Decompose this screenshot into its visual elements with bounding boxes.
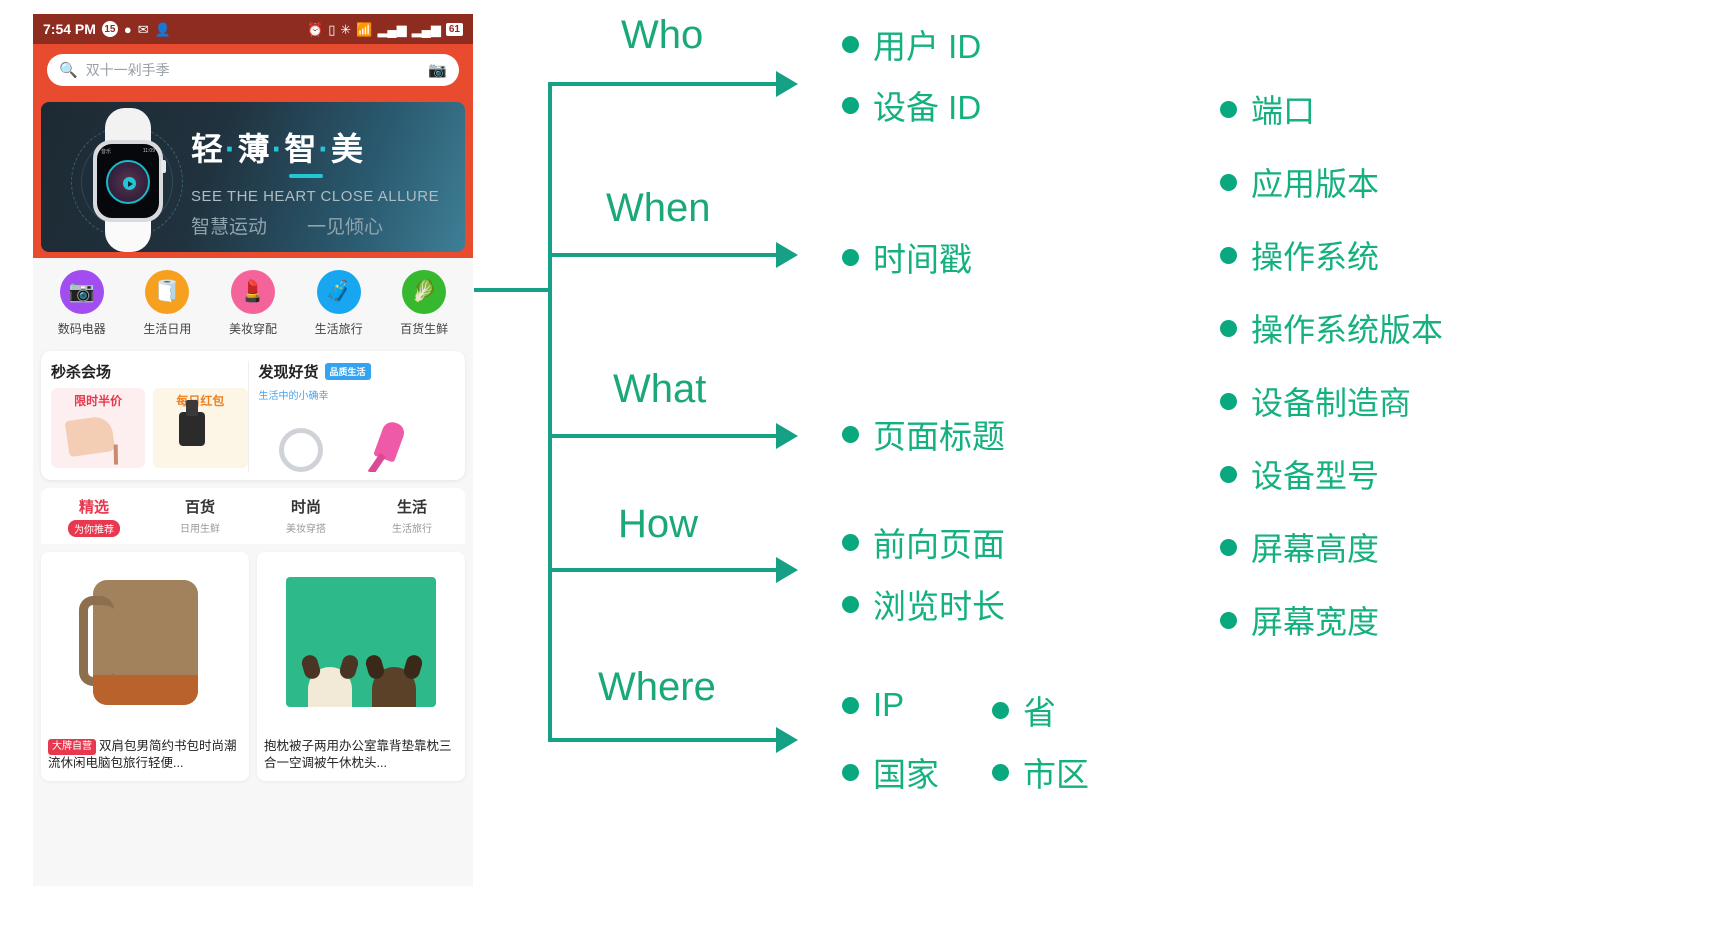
tab-label: 精选 <box>41 496 147 517</box>
smartwatch-illustration: 音乐 11:09 <box>71 108 186 248</box>
category-row: 📷 数码电器 🧻 生活日用 💄 美妆穿配 🧳 生活旅行 🥬 百货生鲜 <box>33 258 473 343</box>
notification-count-badge: 15 <box>102 21 118 37</box>
attribute-item-3: 操作系统版本 <box>1220 305 1443 351</box>
bullet-dot-icon <box>842 596 859 613</box>
category-label: 百货生鲜 <box>400 320 448 337</box>
flash-sale-section[interactable]: 秒杀会场 限时半价 每日红包 <box>51 361 248 472</box>
flash-sale-header: 秒杀会场 <box>51 361 248 382</box>
bullet-dot-icon <box>1220 539 1237 556</box>
branch-label-who: Who <box>621 13 703 58</box>
tab-department[interactable]: 百货 日用生鲜 <box>147 496 253 538</box>
product-card-1[interactable]: 抱枕被子两用办公室靠背垫靠枕三合一空调被午休枕头... <box>257 552 465 781</box>
branch-arrow-what <box>776 423 798 449</box>
category-item-4[interactable]: 🥬 百货生鲜 <box>381 270 467 337</box>
attribute-label: 应用版本 <box>1251 159 1379 205</box>
ring-illustration <box>279 428 323 472</box>
status-bar: 7:54 PM 15 ● ✉ 👤 ⏰ ▯ ✳ 📶 ▂▄▆ ▂▄▆ 61 <box>33 14 473 44</box>
bullet-label: 用户 ID <box>873 20 981 68</box>
promo-banner[interactable]: 音乐 11:09 轻·薄·智·美 SEE THE HEART CLOSE ALL… <box>41 102 465 252</box>
bullet-how-0: 前向页面 <box>842 518 1005 566</box>
flash-sale-title: 秒杀会场 <box>51 361 111 382</box>
phone-mockup: 7:54 PM 15 ● ✉ 👤 ⏰ ▯ ✳ 📶 ▂▄▆ ▂▄▆ 61 🔍 双十… <box>33 14 473 886</box>
flash-tile-label: 每日红包 <box>153 392 247 409</box>
status-bar-right: ⏰ ▯ ✳ 📶 ▂▄▆ ▂▄▆ 61 <box>307 23 463 36</box>
bullet-label: 浏览时长 <box>873 580 1005 628</box>
branch-arm-where <box>548 738 784 742</box>
bullet-label: 时间戳 <box>873 233 972 281</box>
discover-subtitle: 生活中的小确幸 <box>259 387 456 402</box>
watch-app-label: 音乐 <box>101 148 111 155</box>
category-item-0[interactable]: 📷 数码电器 <box>39 270 125 337</box>
branch-label-how: How <box>618 502 698 547</box>
attribute-item-1: 应用版本 <box>1220 159 1379 205</box>
veggie-icon: 🥬 <box>402 270 446 314</box>
flash-tile-0[interactable]: 限时半价 <box>51 388 145 468</box>
attribute-label: 设备型号 <box>1251 451 1379 497</box>
product-image <box>257 552 465 732</box>
attribute-item-5: 设备型号 <box>1220 451 1379 497</box>
tab-sublabel: 为你推荐 <box>68 520 120 537</box>
bullet-dot-icon <box>1220 466 1237 483</box>
attribute-label: 操作系统版本 <box>1251 305 1443 351</box>
discover-tiles <box>259 404 456 472</box>
discover-tag: 品质生活 <box>325 363 371 380</box>
discover-section[interactable]: 发现好货 品质生活 生活中的小确幸 <box>248 361 456 472</box>
branch-label-where: Where <box>598 665 716 710</box>
banner-subtitle-cn: 智慧运动一见倾心 <box>191 212 383 239</box>
tab-featured[interactable]: 精选 为你推荐 <box>41 496 147 538</box>
camera-icon[interactable]: 📷 <box>428 61 447 79</box>
banner-divider <box>289 174 323 178</box>
branch-arm-who <box>548 82 784 86</box>
promo-card: 秒杀会场 限时半价 每日红包 发现好货 品质生活 <box>41 351 465 480</box>
branch-arm-when <box>548 253 784 257</box>
branch-arrow-when <box>776 242 798 268</box>
bullet-label: 前向页面 <box>873 518 1005 566</box>
play-icon <box>123 177 136 190</box>
banner-subtitle-en: SEE THE HEART CLOSE ALLURE <box>191 188 439 205</box>
bullet-dot-icon <box>842 534 859 551</box>
attribute-item-2: 操作系统 <box>1220 232 1379 278</box>
banner-area: 音乐 11:09 轻·薄·智·美 SEE THE HEART CLOSE ALL… <box>33 102 473 258</box>
discover-header: 发现好货 品质生活 <box>259 361 456 382</box>
bullet-what-0: 页面标题 <box>842 410 1005 458</box>
bullet-label: 国家 <box>873 748 939 796</box>
bullet-label: 省 <box>1023 686 1056 734</box>
diagram-stub <box>474 288 550 292</box>
bullet-dot-icon <box>1220 320 1237 337</box>
bullet-where-3: 市区 <box>992 748 1089 796</box>
camera-icon: 📷 <box>60 270 104 314</box>
luggage-icon: 🧳 <box>317 270 361 314</box>
bullet-who-0: 用户 ID <box>842 20 981 68</box>
bullet-dot-icon <box>842 697 859 714</box>
bullet-dot-icon <box>1220 174 1237 191</box>
hairdryer-illustration <box>373 419 407 462</box>
banner-subtitle-cn-right: 一见倾心 <box>307 217 383 238</box>
attribute-label: 端口 <box>1251 86 1315 132</box>
bullet-dot-icon <box>842 764 859 781</box>
category-item-1[interactable]: 🧻 生活日用 <box>125 270 211 337</box>
alarm-icon: ⏰ <box>307 23 323 36</box>
branch-label-when: When <box>606 186 711 231</box>
branch-arrow-how <box>776 557 798 583</box>
product-title: 大牌自营双肩包男简约书包时尚潮流休闲电脑包旅行轻便... <box>41 732 249 781</box>
screenshot-root: 7:54 PM 15 ● ✉ 👤 ⏰ ▯ ✳ 📶 ▂▄▆ ▂▄▆ 61 🔍 双十… <box>0 0 1722 944</box>
product-title-text: 抱枕被子两用办公室靠背垫靠枕三合一空调被午休枕头... <box>264 739 452 770</box>
attribute-item-6: 屏幕高度 <box>1220 524 1379 570</box>
attribute-label: 屏幕宽度 <box>1251 597 1379 643</box>
makeup-icon: 💄 <box>231 270 275 314</box>
message-icon: ● <box>124 23 132 36</box>
search-icon: 🔍 <box>59 61 78 79</box>
signal2-icon: ▂▄▆ <box>412 23 441 36</box>
battery-indicator: 61 <box>446 23 463 36</box>
bullet-dot-icon <box>1220 612 1237 629</box>
pillow-illustration <box>286 577 436 707</box>
bullet-dot-icon <box>1220 247 1237 264</box>
product-image <box>41 552 249 732</box>
tab-label: 百货 <box>147 496 253 517</box>
diagram-spine <box>548 82 552 742</box>
branch-arm-how <box>548 568 784 572</box>
watch-illustration <box>179 412 205 446</box>
bullet-where-2: 国家 <box>842 748 939 796</box>
bullet-dot-icon <box>992 702 1009 719</box>
dog-left-icon <box>308 667 352 707</box>
product-badge: 大牌自营 <box>48 739 96 755</box>
bullet-where-1: 省 <box>992 686 1056 734</box>
tab-fashion[interactable]: 时尚 美妆穿搭 <box>253 496 359 538</box>
category-label: 美妆穿配 <box>229 320 277 337</box>
tab-sublabel: 生活旅行 <box>359 520 465 535</box>
dog-right-icon <box>372 667 416 707</box>
content-tab-bar: 精选 为你推荐 百货 日用生鲜 时尚 美妆穿搭 生活 生活旅行 <box>41 488 465 544</box>
banner-subtitle-cn-left: 智慧运动 <box>191 217 267 238</box>
bullet-dot-icon <box>842 426 859 443</box>
tab-sublabel: 日用生鲜 <box>147 520 253 535</box>
attribute-label: 设备制造商 <box>1251 378 1411 424</box>
watch-time-label: 11:09 <box>143 148 155 155</box>
search-placeholder: 双十一剁手季 <box>86 60 421 80</box>
flash-tile-1[interactable]: 每日红包 <box>153 388 247 468</box>
search-input[interactable]: 🔍 双十一剁手季 📷 <box>47 54 459 86</box>
backpack-illustration <box>93 580 198 705</box>
wifi-icon: 📶 <box>356 23 372 36</box>
shoe-illustration <box>65 415 116 457</box>
bullet-where-0: IP <box>842 686 904 724</box>
bullet-label: 页面标题 <box>873 410 1005 458</box>
branch-arrow-who <box>776 71 798 97</box>
category-item-3[interactable]: 🧳 生活旅行 <box>296 270 382 337</box>
bullet-dot-icon <box>1220 101 1237 118</box>
bullet-dot-icon <box>842 249 859 266</box>
bullet-when-0: 时间戳 <box>842 233 972 281</box>
mail-icon: ✉ <box>138 23 149 36</box>
bullet-dot-icon <box>842 97 859 114</box>
product-card-0[interactable]: 大牌自营双肩包男简约书包时尚潮流休闲电脑包旅行轻便... <box>41 552 249 781</box>
discover-tile-1[interactable] <box>361 404 455 472</box>
watch-screen-topbar: 音乐 11:09 <box>101 148 155 155</box>
vibrate-icon: ▯ <box>328 23 335 36</box>
bullet-dot-icon <box>1220 393 1237 410</box>
bullet-dot-icon <box>842 36 859 53</box>
branch-arm-what <box>548 434 784 438</box>
bullet-how-1: 浏览时长 <box>842 580 1005 628</box>
contacts-icon: 👤 <box>155 23 171 36</box>
branch-arrow-where <box>776 727 798 753</box>
flash-sale-tiles: 限时半价 每日红包 <box>51 388 248 468</box>
status-bar-left: 7:54 PM 15 ● ✉ 👤 <box>43 21 171 37</box>
bullet-label: IP <box>873 686 904 724</box>
category-label: 生活旅行 <box>315 320 363 337</box>
category-label: 数码电器 <box>58 320 106 337</box>
bullet-label: 市区 <box>1023 748 1089 796</box>
attribute-item-0: 端口 <box>1220 86 1315 132</box>
bullet-label: 设备 ID <box>873 81 981 129</box>
tab-life[interactable]: 生活 生活旅行 <box>359 496 465 538</box>
product-title: 抱枕被子两用办公室靠背垫靠枕三合一空调被午休枕头... <box>257 732 465 781</box>
tab-label: 生活 <box>359 496 465 517</box>
banner-title: 轻·薄·智·美 <box>191 124 365 170</box>
bluetooth-icon: ✳ <box>340 23 351 36</box>
tab-label: 时尚 <box>253 496 359 517</box>
signal-icon: ▂▄▆ <box>377 23 406 36</box>
discover-title: 发现好货 <box>259 361 319 382</box>
tissue-icon: 🧻 <box>145 270 189 314</box>
category-label: 生活日用 <box>143 320 191 337</box>
bullet-dot-icon <box>992 764 1009 781</box>
watch-crown <box>161 160 166 173</box>
attribute-item-4: 设备制造商 <box>1220 378 1411 424</box>
attribute-label: 屏幕高度 <box>1251 524 1379 570</box>
product-grid: 大牌自营双肩包男简约书包时尚潮流休闲电脑包旅行轻便... 抱枕被子两用办公室靠背… <box>41 552 465 781</box>
attribute-label: 操作系统 <box>1251 232 1379 278</box>
attribute-item-7: 屏幕宽度 <box>1220 597 1379 643</box>
branch-label-what: What <box>613 367 706 412</box>
5w-diagram: Who When What How Where 用户 ID 设备 ID 时间戳 … <box>480 0 1722 944</box>
search-area: 🔍 双十一剁手季 📷 <box>33 44 473 102</box>
status-time: 7:54 PM <box>43 21 96 37</box>
flash-tile-label: 限时半价 <box>51 392 145 409</box>
category-item-2[interactable]: 💄 美妆穿配 <box>210 270 296 337</box>
tab-sublabel: 美妆穿搭 <box>253 520 359 535</box>
bullet-who-1: 设备 ID <box>842 81 981 129</box>
watch-screen: 音乐 11:09 <box>97 144 159 218</box>
discover-tile-0[interactable] <box>259 404 353 472</box>
